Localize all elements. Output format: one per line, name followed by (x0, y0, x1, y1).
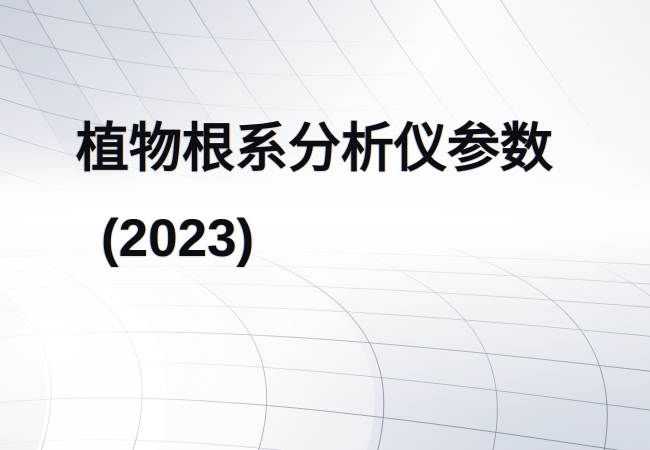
title-slide: 植物根系分析仪参数 (2023) (0, 0, 650, 450)
page-subtitle-year: (2023) (101, 212, 254, 265)
title-text-block: 植物根系分析仪参数 (2023) (0, 0, 650, 450)
page-title: 植物根系分析仪参数 (76, 122, 553, 175)
